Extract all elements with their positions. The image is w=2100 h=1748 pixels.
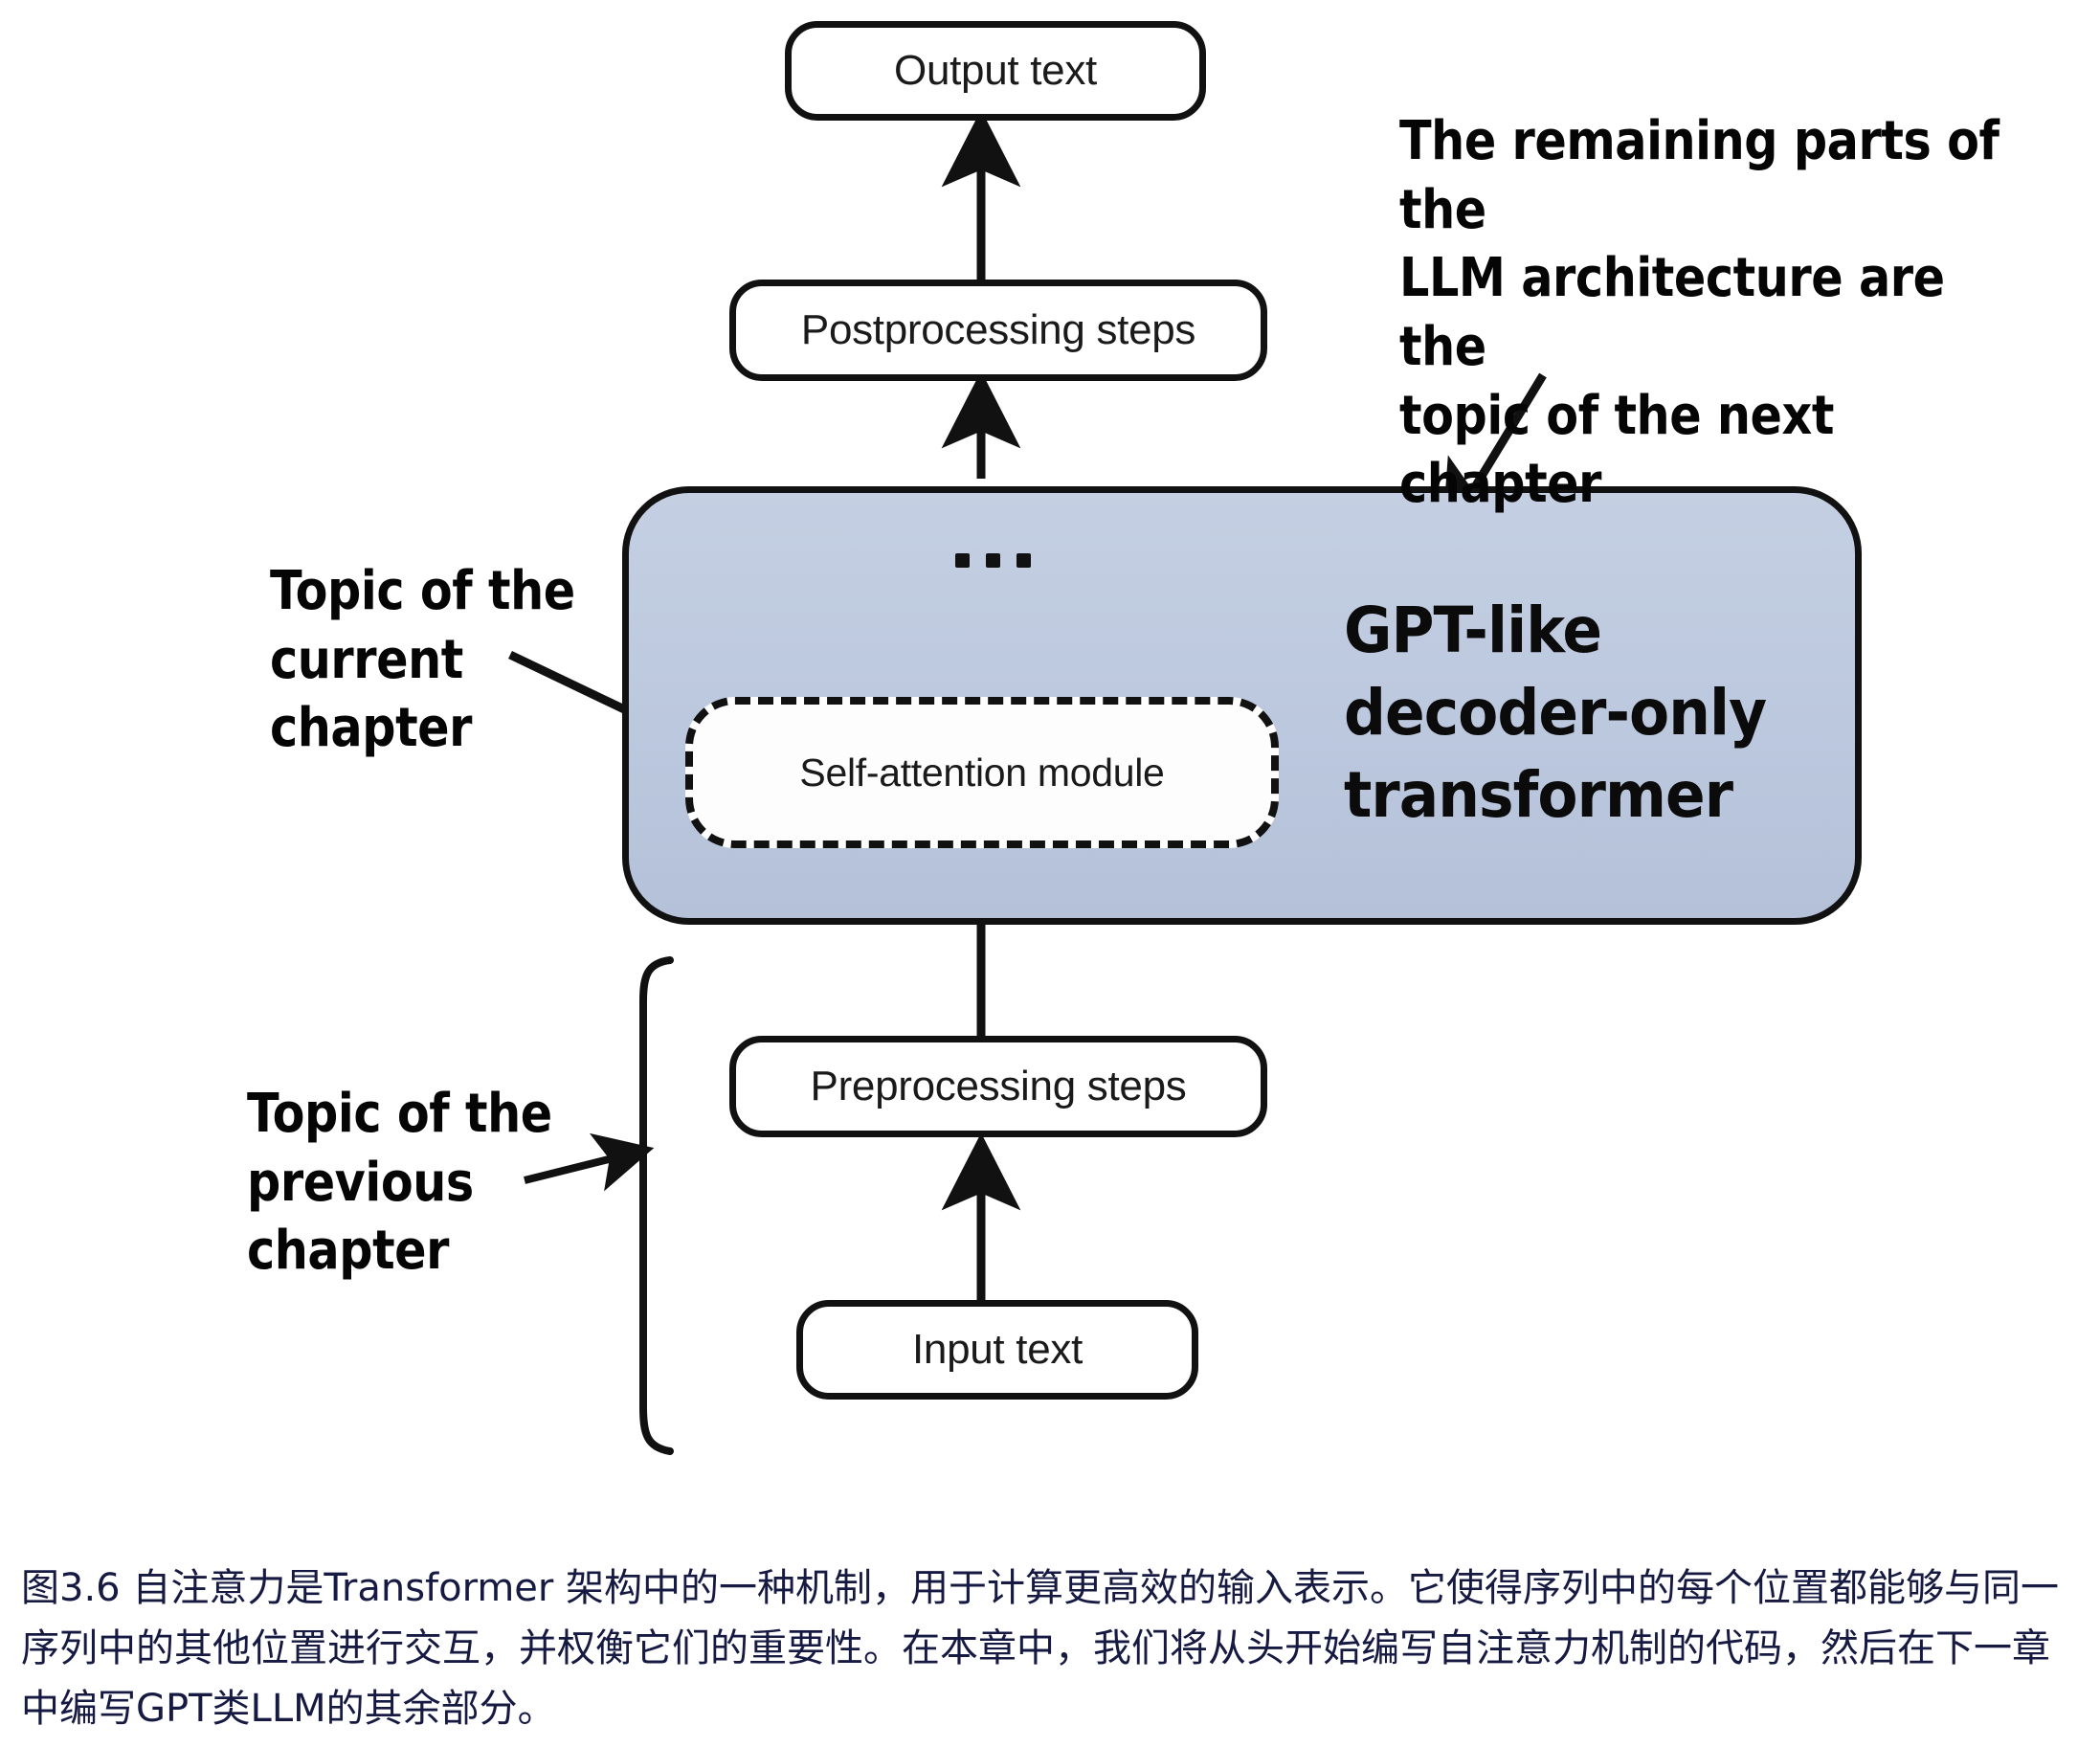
node-preprocessing-steps[interactable]: Preprocessing steps [729, 1036, 1267, 1137]
node-input-text[interactable]: Input text [796, 1300, 1198, 1400]
annotation-previous-chapter: Topic of the previous chapter [247, 1080, 552, 1286]
gpt-transformer-label: GPT-like decoder-only transformer [1344, 590, 1766, 836]
node-preprocessing-steps-label: Preprocessing steps [811, 1063, 1187, 1110]
node-self-attention-label: Self-attention module [799, 751, 1164, 796]
node-self-attention-module[interactable]: Self-attention module [685, 697, 1279, 848]
node-postprocessing-steps[interactable]: Postprocessing steps [729, 280, 1267, 381]
node-output-text-label: Output text [894, 47, 1097, 95]
ellipsis-icon [955, 553, 1031, 568]
grouping-bracket [643, 960, 670, 1451]
node-output-text[interactable]: Output text [785, 21, 1206, 121]
annotation-current-chapter: Topic of the current chapter [270, 557, 575, 763]
annotation-next-chapter: The remaining parts of the LLM architect… [1399, 107, 2016, 519]
node-postprocessing-steps-label: Postprocessing steps [801, 306, 1195, 354]
node-input-text-label: Input text [912, 1326, 1083, 1374]
figure-caption: 图3.6 自注意力是Transformer 架构中的一种机制，用于计算更高效的输… [21, 1558, 2079, 1740]
figure-canvas: Output text Postprocessing steps GPT-lik… [0, 0, 2100, 1748]
